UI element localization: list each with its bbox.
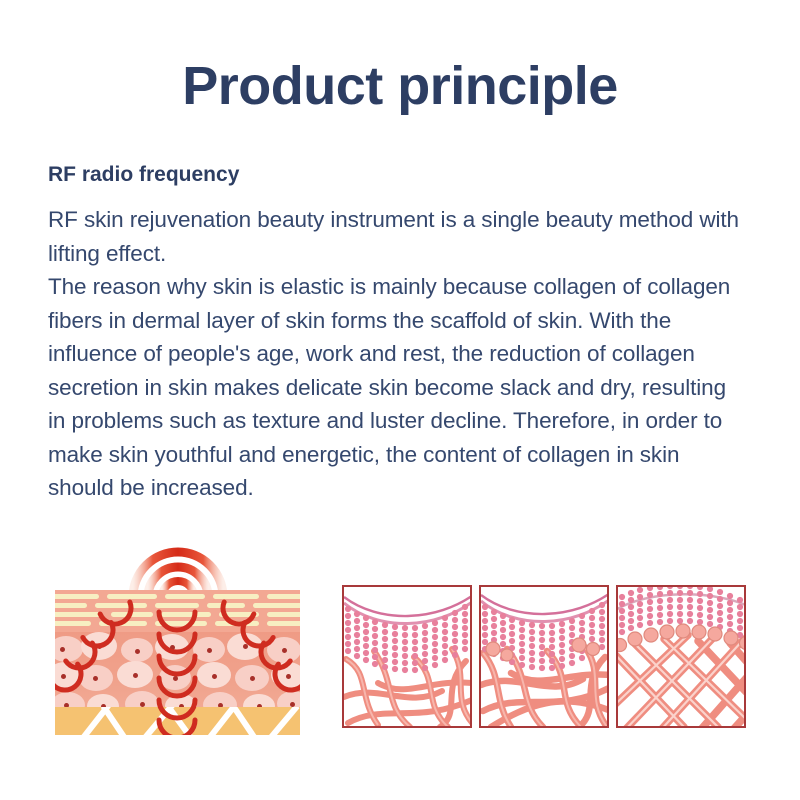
- paragraph-intro: RF skin rejuvenation beauty instrument i…: [48, 203, 748, 270]
- skin-cross-section: [55, 590, 300, 735]
- collagen-comparison-panels: [342, 585, 746, 728]
- illustration-row: [0, 540, 800, 740]
- body-copy: RF skin rejuvenation beauty instrument i…: [48, 203, 748, 505]
- rf-wave-skin-penetration-illustration: [55, 545, 300, 735]
- collagen-panel-firm: [616, 585, 746, 728]
- collagen-panel-intermediate: [479, 585, 609, 728]
- page-title: Product principle: [0, 58, 800, 115]
- collagen-panel-loose: [342, 585, 472, 728]
- product-principle-page: Product principle RF radio frequency RF …: [0, 0, 800, 800]
- paragraph-collagen: The reason why skin is elastic is mainly…: [48, 270, 748, 505]
- section-subtitle: RF radio frequency: [48, 163, 239, 187]
- rf-wave-emitter-icon: [55, 545, 300, 595]
- rf-wave-arcs: [55, 590, 300, 735]
